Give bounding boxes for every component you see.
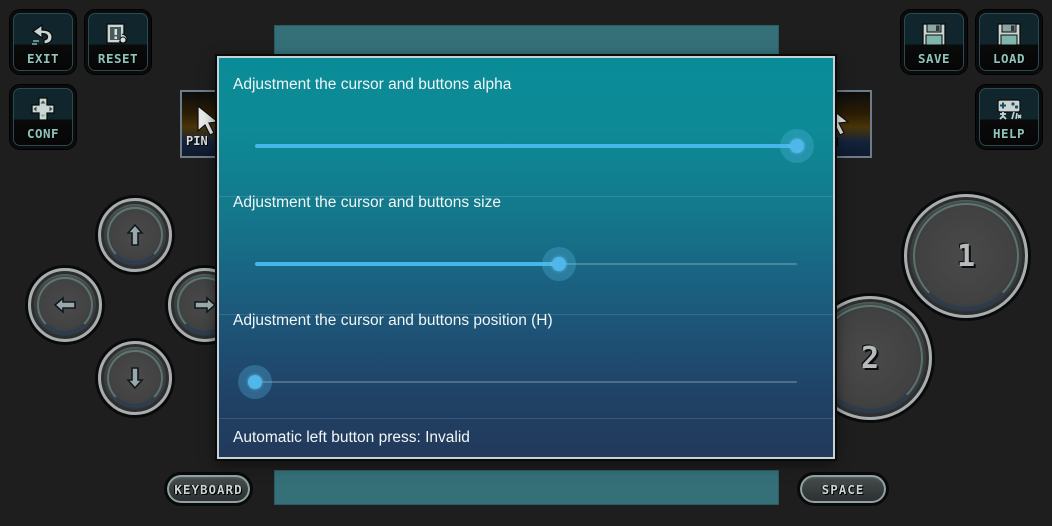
space-label: SPACE (822, 482, 865, 497)
action-button-1[interactable]: 1 (904, 194, 1028, 318)
slider-size[interactable] (255, 262, 797, 266)
slider-thumb[interactable] (552, 257, 566, 271)
help-label: HELP (993, 128, 1025, 141)
up-arrow-icon (122, 222, 148, 248)
exit-button[interactable]: EXIT (10, 10, 76, 74)
slider-fill (255, 262, 559, 266)
right-arrow-icon (192, 292, 218, 318)
top-teal-bar (274, 25, 779, 60)
load-button[interactable]: LOAD (976, 10, 1042, 74)
floppy-disk-icon (904, 19, 964, 51)
slider-track (255, 381, 797, 383)
reset-button[interactable]: RESET (85, 10, 151, 74)
pref-label-auto-left-press: Automatic left button press: Invalid (233, 429, 470, 447)
dpad-left-button[interactable] (28, 268, 102, 342)
bottom-teal-bar (274, 470, 779, 505)
conf-button[interactable]: CONF (10, 85, 76, 149)
slider-thumb[interactable] (790, 139, 804, 153)
dpad-icon (13, 94, 73, 126)
space-button[interactable]: SPACE (797, 472, 889, 506)
action-button-1-label: 1 (957, 239, 975, 274)
left-arrow-icon (52, 292, 78, 318)
pin-label: PIN (186, 134, 208, 148)
row-divider (219, 418, 833, 419)
save-label: SAVE (918, 53, 950, 66)
pref-row-size: Adjustment the cursor and buttons size (219, 194, 833, 304)
settings-dialog: Adjustment the cursor and buttons alpha … (217, 56, 835, 459)
slider-position-h[interactable] (255, 380, 797, 384)
action-button-2-label: 2 (861, 341, 879, 376)
dpad-up-button[interactable] (98, 198, 172, 272)
help-button[interactable]: HELP (976, 85, 1042, 149)
slider-thumb[interactable] (248, 375, 262, 389)
pref-label-size: Adjustment the cursor and buttons size (233, 194, 501, 212)
reset-icon (88, 19, 148, 51)
dpad-down-button[interactable] (98, 341, 172, 415)
reset-label: RESET (98, 53, 138, 66)
gamepad-help-icon (979, 94, 1039, 126)
save-button[interactable]: SAVE (901, 10, 967, 74)
pref-label-position-h: Adjustment the cursor and buttons positi… (233, 312, 553, 330)
pref-row-alpha: Adjustment the cursor and buttons alpha (219, 76, 833, 186)
game-overlay-screen: EXIT RESET CONF (0, 0, 1052, 526)
back-arrow-icon (13, 19, 73, 51)
exit-label: EXIT (27, 53, 59, 66)
pref-row-position-h: Adjustment the cursor and buttons positi… (219, 312, 833, 422)
pref-row-auto-left-press[interactable]: Automatic left button press: Invalid (219, 429, 833, 459)
floppy-disk-icon (979, 19, 1039, 51)
slider-alpha[interactable] (255, 144, 797, 148)
pref-label-alpha: Adjustment the cursor and buttons alpha (233, 76, 511, 94)
conf-label: CONF (27, 128, 59, 141)
down-arrow-icon (122, 365, 148, 391)
slider-fill (255, 144, 797, 148)
load-label: LOAD (993, 53, 1025, 66)
keyboard-button[interactable]: KEYBOARD (164, 472, 253, 506)
keyboard-label: KEYBOARD (174, 482, 242, 497)
